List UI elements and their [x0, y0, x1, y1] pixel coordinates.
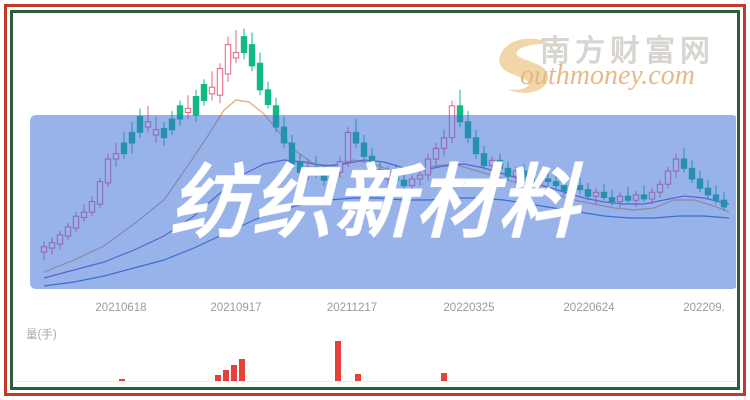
candlestick	[297, 154, 302, 178]
candlestick	[433, 143, 438, 167]
candlestick	[153, 116, 158, 143]
candlestick	[361, 135, 366, 162]
candlestick	[465, 111, 470, 143]
candlestick	[681, 148, 686, 172]
candlestick	[281, 116, 286, 148]
candlestick	[345, 127, 350, 167]
candlestick	[185, 95, 190, 119]
candlestick	[425, 154, 430, 181]
candlestick	[601, 184, 606, 200]
candlestick	[65, 223, 70, 240]
screenshot-stage: 纺织新材料 2021061820210917202112172022032520…	[0, 0, 750, 400]
candlestick	[577, 178, 582, 194]
x-tick-label: 20210917	[210, 302, 261, 314]
volume-baseline	[14, 381, 736, 382]
candlestick	[457, 90, 462, 127]
ma-line	[44, 198, 729, 286]
candlestick	[481, 146, 486, 170]
volume-pane: 量(手)	[14, 326, 736, 386]
candlestick	[449, 100, 454, 143]
candlestick	[73, 212, 78, 232]
candlestick	[177, 100, 182, 125]
candlestick	[265, 82, 270, 109]
candlestick	[721, 192, 726, 211]
candlestick	[97, 178, 102, 209]
candlestick	[257, 53, 262, 96]
x-tick-label: 20220624	[563, 302, 614, 314]
candlestick	[689, 160, 694, 183]
candlestick	[209, 71, 214, 100]
volume-bar	[231, 365, 237, 381]
volume-bar	[335, 341, 341, 381]
candlestick	[393, 164, 398, 183]
candlestick	[657, 180, 662, 197]
candlestick	[233, 30, 238, 63]
candlestick	[225, 37, 230, 82]
candlestick	[441, 130, 446, 157]
candlestick	[41, 241, 46, 260]
candlestick	[505, 162, 510, 181]
x-tick-label: 20220325	[443, 302, 494, 314]
candlestick	[49, 237, 54, 254]
candlestick	[409, 175, 414, 192]
volume-axis-label: 量(手)	[26, 326, 57, 342]
candlestick	[137, 108, 142, 137]
candlestick	[81, 204, 86, 221]
x-tick-label: 202209.	[683, 302, 725, 314]
candlestick	[329, 167, 334, 187]
x-axis-labels: 2021061820210917202112172022032520220624…	[14, 302, 736, 324]
candlestick	[313, 156, 318, 177]
candlestick	[625, 187, 630, 203]
candlestick	[401, 172, 406, 191]
candlestick	[369, 148, 374, 175]
candlestick-series	[41, 29, 726, 260]
candlestick	[129, 122, 134, 154]
candlestick-svg	[14, 14, 736, 300]
volume-bar	[441, 373, 447, 381]
candlestick	[161, 122, 166, 146]
candlestick	[529, 170, 534, 187]
candlestick	[641, 186, 646, 202]
candlestick	[417, 170, 422, 186]
volume-bar	[239, 359, 245, 381]
candlestick	[217, 63, 222, 103]
candlestick	[249, 33, 254, 72]
candlestick	[617, 192, 622, 208]
candlestick	[113, 143, 118, 167]
candlestick	[121, 132, 126, 159]
volume-bar	[355, 374, 361, 381]
x-tick-label: 20210618	[95, 302, 146, 314]
candlestick	[57, 231, 62, 250]
candlestick	[521, 164, 526, 180]
candlestick	[513, 167, 518, 183]
candlestick	[489, 156, 494, 175]
candlestick	[537, 175, 542, 191]
candlestick	[585, 183, 590, 200]
candlestick	[705, 180, 710, 199]
candlestick	[193, 90, 198, 122]
candlestick	[553, 174, 558, 190]
candlestick	[545, 171, 550, 186]
candlestick	[201, 79, 206, 106]
candlestick	[473, 130, 478, 159]
stock-chart: 纺织新材料 2021061820210917202112172022032520…	[14, 14, 736, 386]
candlestick	[145, 106, 150, 133]
x-tick-label: 20211217	[327, 302, 377, 314]
candlestick	[105, 154, 110, 187]
candlestick	[593, 188, 598, 204]
candlestick	[89, 196, 94, 216]
candlestick	[337, 156, 342, 177]
candlestick	[273, 98, 278, 133]
candlestick	[377, 162, 382, 183]
candlestick	[321, 164, 326, 185]
candlestick	[353, 119, 358, 148]
candlestick	[241, 29, 246, 60]
volume-bar	[223, 370, 229, 381]
candlestick	[289, 135, 294, 170]
candlestick	[697, 171, 702, 192]
candlestick	[497, 154, 502, 173]
candlestick	[665, 167, 670, 188]
candlestick	[673, 154, 678, 178]
candlestick	[169, 111, 174, 135]
moving-average-lines	[44, 100, 729, 286]
price-pane	[14, 14, 736, 300]
